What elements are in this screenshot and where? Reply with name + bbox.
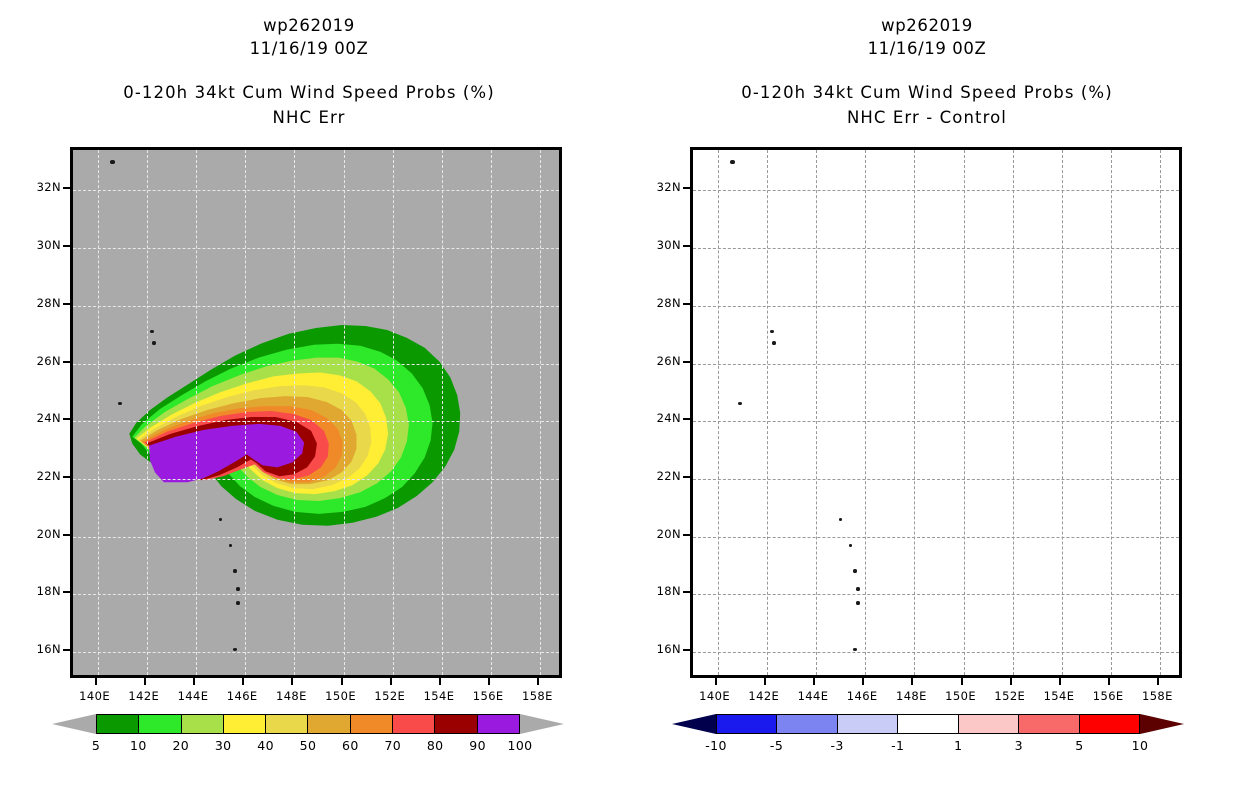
x-axis-tick-label: 154E: [424, 689, 455, 703]
x-axis-tick: [961, 678, 963, 685]
gridline-horizontal: [693, 537, 1179, 538]
colorbar-tick-label: 10: [1132, 738, 1149, 753]
panel-left: wp262019 11/16/19 00Z 0-120h 34kt Cum Wi…: [0, 0, 618, 800]
y-axis-tick: [63, 187, 70, 189]
island-marker: [856, 601, 860, 605]
colorbar-tick-label: 3: [1015, 738, 1023, 753]
y-axis-tick: [683, 418, 690, 420]
colorbar-right[interactable]: -10-5-3-113510: [672, 714, 1184, 760]
x-axis-tick-label: 144E: [798, 689, 829, 703]
island-marker: [738, 402, 742, 405]
colorbar-tick-label: 20: [172, 738, 189, 753]
gridline-vertical: [816, 150, 817, 675]
colorbar-tick-label: 30: [215, 738, 232, 753]
x-axis-tick: [813, 678, 815, 685]
colorbar-tick-label: 100: [507, 738, 532, 753]
colorbar-tick-label: 5: [92, 738, 100, 753]
colorbar-swatch: [959, 715, 1019, 733]
y-axis-tick: [683, 245, 690, 247]
colorbar-tick-label: 1: [954, 738, 962, 753]
y-axis-tick: [63, 649, 70, 651]
colorbar-left-cap-high: [520, 714, 564, 734]
gridline-vertical: [1160, 150, 1161, 675]
y-axis-tick-label: 30N: [37, 238, 61, 252]
colorbar-left[interactable]: 5102030405060708090100: [52, 714, 564, 760]
colorbar-swatch: [838, 715, 898, 733]
x-axis-tick: [1108, 678, 1110, 685]
colorbar-tick-label: 5: [1075, 738, 1083, 753]
colorbar-swatch: [435, 715, 477, 733]
x-axis-tick: [862, 678, 864, 685]
y-axis-tick-label: 26N: [37, 354, 61, 368]
y-axis-tick-label: 18N: [657, 584, 681, 598]
colorbar-tick-label: -3: [831, 738, 844, 753]
x-axis-tick: [911, 678, 913, 685]
gridline-horizontal: [693, 190, 1179, 191]
storm-id-left: wp262019: [0, 14, 618, 37]
y-axis-tick-label: 24N: [657, 411, 681, 425]
x-axis-tick: [390, 678, 392, 685]
y-axis-tick: [63, 534, 70, 536]
colorbar-swatch: [1080, 715, 1139, 733]
island-marker: [853, 648, 857, 651]
gridline-vertical: [1111, 150, 1112, 675]
plot-area-right: [690, 147, 1182, 678]
y-axis-tick: [683, 649, 690, 651]
y-axis-tick: [683, 303, 690, 305]
island-marker: [772, 341, 776, 345]
y-axis-tick-label: 16N: [657, 642, 681, 656]
colorbar-left-row: [52, 714, 564, 734]
plot-subtitle-left: NHC Err: [0, 105, 618, 130]
x-axis-tick: [439, 678, 441, 685]
y-axis-tick: [63, 303, 70, 305]
island-marker: [849, 544, 852, 547]
gridline-horizontal: [693, 248, 1179, 249]
y-axis-tick-label: 30N: [657, 238, 681, 252]
x-axis-tick: [95, 678, 97, 685]
colorbar-tick-label: 80: [427, 738, 444, 753]
x-axis-tick: [1059, 678, 1061, 685]
gridline-vertical: [1062, 150, 1063, 675]
gridline-vertical: [767, 150, 768, 675]
y-axis-tick-label: 16N: [37, 642, 61, 656]
y-axis-tick: [683, 591, 690, 593]
plot-inner-left: [73, 150, 559, 675]
island-marker: [219, 518, 222, 521]
colorbar-tick-label: 60: [342, 738, 359, 753]
panel-right-titles: wp262019 11/16/19 00Z 0-120h 34kt Cum Wi…: [618, 14, 1236, 130]
plot-title-right: 0-120h 34kt Cum Wind Speed Probs (%): [618, 80, 1236, 105]
x-axis-tick-label: 156E: [1093, 689, 1124, 703]
colorbar-tick-label: 10: [130, 738, 147, 753]
colorbar-swatch: [139, 715, 181, 733]
x-axis-tick-label: 152E: [374, 689, 405, 703]
x-axis-tick-label: 150E: [325, 689, 356, 703]
datetime-right: 11/16/19 00Z: [618, 37, 1236, 60]
plot-area-left: [70, 147, 562, 678]
island-marker: [853, 569, 857, 573]
x-axis-tick: [291, 678, 293, 685]
gridline-vertical: [964, 150, 965, 675]
y-axis-tick-label: 32N: [657, 180, 681, 194]
plot-left[interactable]: 16N18N20N22N24N26N28N30N32N 140E142E144E…: [70, 147, 562, 678]
colorbar-swatch: [351, 715, 393, 733]
island-marker: [229, 544, 232, 547]
colorbar-tick-label: 50: [300, 738, 317, 753]
y-axis-tick-label: 22N: [37, 469, 61, 483]
y-axis-tick-label: 22N: [657, 469, 681, 483]
gridline-horizontal: [693, 306, 1179, 307]
x-axis-tick-label: 144E: [178, 689, 209, 703]
island-marker: [839, 518, 842, 521]
island-marker: [236, 601, 240, 605]
x-axis-tick-label: 148E: [896, 689, 927, 703]
island-marker: [770, 330, 774, 333]
plot-inner-right: [693, 150, 1179, 675]
plot-title-left: 0-120h 34kt Cum Wind Speed Probs (%): [0, 80, 618, 105]
datetime-left: 11/16/19 00Z: [0, 37, 618, 60]
x-axis-tick-label: 142E: [128, 689, 159, 703]
y-axis-tick: [63, 591, 70, 593]
island-marker: [856, 587, 860, 591]
colorbar-tick-label: -1: [891, 738, 904, 753]
colorbar-left-ticks: 5102030405060708090100: [96, 735, 520, 757]
colorbar-swatch: [308, 715, 350, 733]
island-marker: [233, 648, 237, 651]
x-axis-tick-label: 140E: [79, 689, 110, 703]
y-axis-tick-label: 24N: [37, 411, 61, 425]
x-axis-tick-label: 140E: [699, 689, 730, 703]
gridline-vertical: [718, 150, 719, 675]
y-axis-tick: [63, 418, 70, 420]
x-axis-tick-label: 158E: [522, 689, 553, 703]
x-axis-tick: [242, 678, 244, 685]
colorbar-tick-label: 90: [469, 738, 486, 753]
y-axis-tick-label: 18N: [37, 584, 61, 598]
colorbar-right-cap-low: [672, 714, 716, 734]
colorbar-right-row: [672, 714, 1184, 734]
gridline-vertical: [914, 150, 915, 675]
y-axis-tick-label: 20N: [37, 527, 61, 541]
colorbar-swatch: [182, 715, 224, 733]
x-axis-tick-label: 150E: [945, 689, 976, 703]
gridline-vertical: [865, 150, 866, 675]
x-axis-tick-label: 148E: [276, 689, 307, 703]
gridline-horizontal: [693, 479, 1179, 480]
x-axis-tick-label: 158E: [1142, 689, 1173, 703]
colorbar-swatch: [898, 715, 958, 733]
colorbar-tick-label: 40: [257, 738, 274, 753]
x-axis-tick: [488, 678, 490, 685]
y-axis-tick-label: 28N: [657, 296, 681, 310]
x-axis-tick-label: 146E: [227, 689, 258, 703]
colorbar-swatch: [717, 715, 777, 733]
x-axis-tick-label: 152E: [994, 689, 1025, 703]
y-axis-tick: [63, 361, 70, 363]
x-axis-tick-label: 146E: [847, 689, 878, 703]
y-axis-tick: [683, 534, 690, 536]
island-marker: [236, 587, 240, 591]
x-axis-tick-label: 154E: [1044, 689, 1075, 703]
colorbar-left-cap-low: [52, 714, 96, 734]
x-axis-tick: [764, 678, 766, 685]
contour-field: [73, 150, 559, 675]
x-axis-tick-label: 156E: [473, 689, 504, 703]
colorbar-right-cells: [716, 714, 1140, 734]
colorbar-left-cells: [96, 714, 520, 734]
x-axis-tick: [1010, 678, 1012, 685]
y-axis-tick: [683, 361, 690, 363]
y-axis-tick: [63, 476, 70, 478]
x-axis-tick: [537, 678, 539, 685]
colorbar-right-cap-high: [1140, 714, 1184, 734]
colorbar-swatch: [266, 715, 308, 733]
colorbar-swatch: [97, 715, 139, 733]
y-axis-tick: [63, 245, 70, 247]
panel-left-titles: wp262019 11/16/19 00Z 0-120h 34kt Cum Wi…: [0, 14, 618, 130]
plot-right[interactable]: 16N18N20N22N24N26N28N30N32N 140E142E144E…: [690, 147, 1182, 678]
gridline-horizontal: [693, 421, 1179, 422]
gridline-horizontal: [693, 594, 1179, 595]
y-axis-tick-label: 28N: [37, 296, 61, 310]
colorbar-tick-label: -10: [705, 738, 727, 753]
gridline-horizontal: [693, 652, 1179, 653]
x-axis-tick: [715, 678, 717, 685]
storm-id-right: wp262019: [618, 14, 1236, 37]
x-axis-tick: [341, 678, 343, 685]
colorbar-tick-label: 70: [384, 738, 401, 753]
colorbar-swatch: [777, 715, 837, 733]
x-axis-tick: [144, 678, 146, 685]
island-marker: [730, 160, 735, 164]
figure-panels: wp262019 11/16/19 00Z 0-120h 34kt Cum Wi…: [0, 0, 1236, 800]
colorbar-swatch: [224, 715, 266, 733]
colorbar-tick-label: -5: [770, 738, 783, 753]
y-axis-tick-label: 20N: [657, 527, 681, 541]
y-axis-tick: [683, 187, 690, 189]
y-axis-tick-label: 32N: [37, 180, 61, 194]
colorbar-swatch: [393, 715, 435, 733]
gridline-horizontal: [693, 364, 1179, 365]
y-axis-tick-label: 26N: [657, 354, 681, 368]
colorbar-swatch: [1019, 715, 1079, 733]
island-marker: [110, 160, 115, 164]
x-axis-tick-label: 142E: [748, 689, 779, 703]
y-axis-tick: [683, 476, 690, 478]
plot-subtitle-right: NHC Err - Control: [618, 105, 1236, 130]
colorbar-swatch: [478, 715, 519, 733]
x-axis-tick: [193, 678, 195, 685]
x-axis-tick: [1157, 678, 1159, 685]
colorbar-right-ticks: -10-5-3-113510: [716, 735, 1140, 757]
gridline-vertical: [1013, 150, 1014, 675]
